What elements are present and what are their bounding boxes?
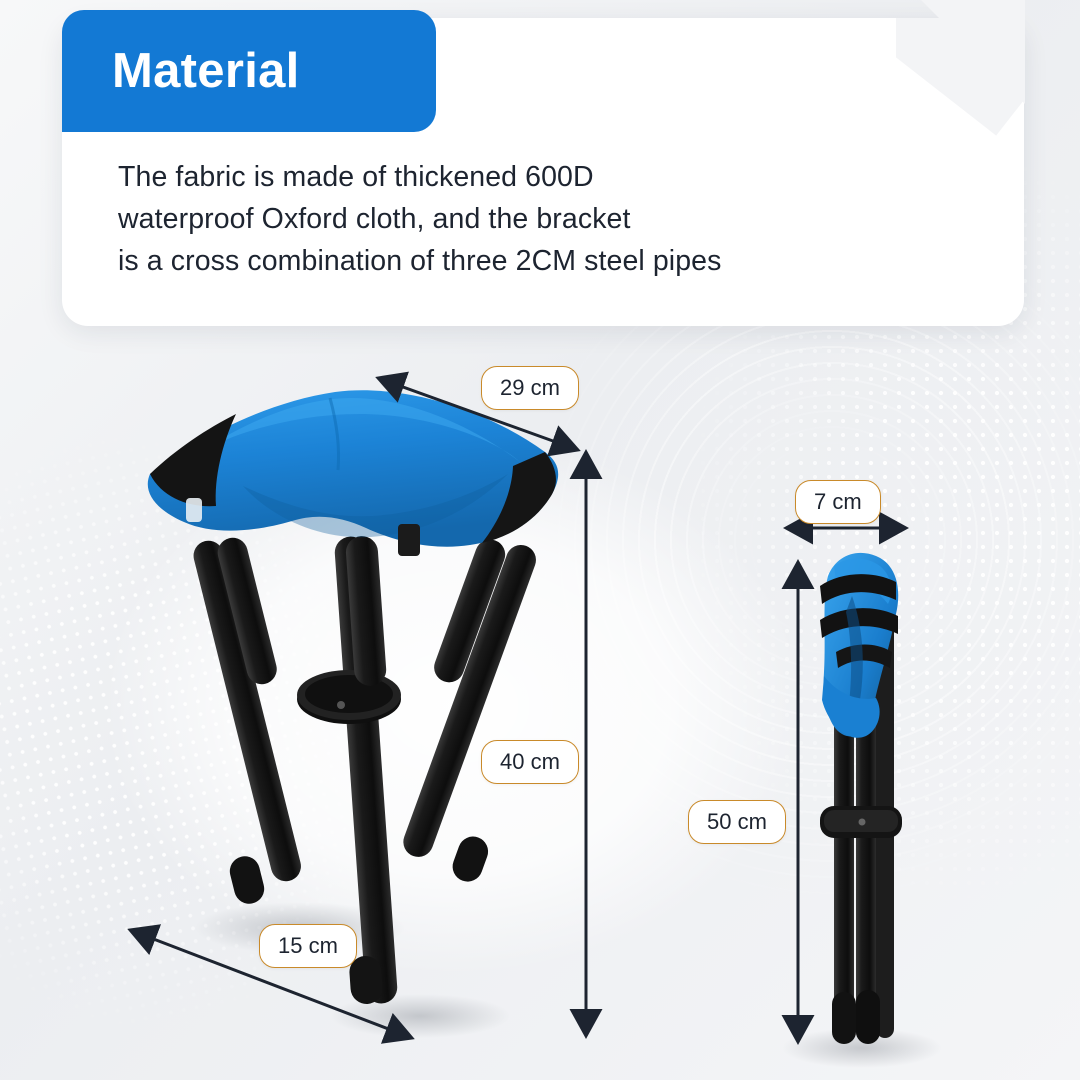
dimension-label-29cm: 29 cm [481,366,579,410]
stool-seat-fabric [148,390,558,556]
stool-upper-legs [215,535,510,688]
dimension-label-15cm: 15 cm [259,924,357,968]
folded-pivot-hub [820,806,902,838]
product-graphics [0,0,1080,1080]
folded-foot-2 [856,990,880,1044]
folded-stool-illustration [820,553,902,1044]
dimension-label-50cm: 50 cm [688,800,786,844]
product-illustration-stage: 29 cm 40 cm 15 cm 7 cm 50 cm [0,0,1080,1080]
folded-foot-1 [832,992,856,1044]
stool-pivot-hub [297,670,401,724]
dimension-label-40cm: 40 cm [481,740,579,784]
dimension-label-7cm: 7 cm [795,480,881,524]
